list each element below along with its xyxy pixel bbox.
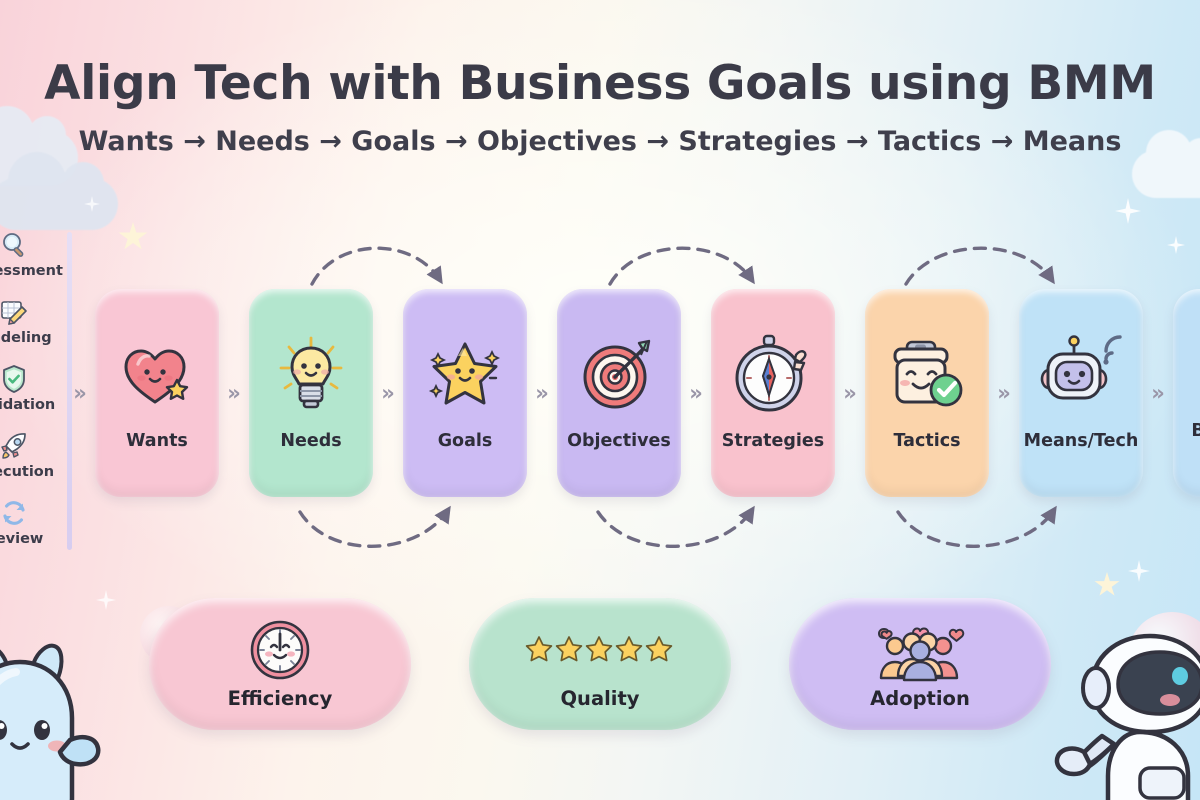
pill-label: Quality xyxy=(560,687,639,710)
chevron-right-icon: » xyxy=(835,289,865,497)
flow-card-tactics[interactable]: Tactics xyxy=(865,289,989,497)
flow-card-row: » Wants » xyxy=(95,289,1200,497)
chevron-right-icon: » xyxy=(1143,289,1173,497)
pill-label: Efficiency xyxy=(228,687,333,710)
cloud-icon xyxy=(0,178,118,230)
white-robot-mascot xyxy=(1054,628,1200,800)
card-label: Strategies xyxy=(722,432,824,452)
robot-wifi-icon xyxy=(1038,328,1124,420)
page-subtitle: Wants → Needs → Goals → Objectives → Str… xyxy=(0,126,1200,157)
sparkle-icon xyxy=(1115,198,1141,224)
shield-check-icon xyxy=(0,362,28,396)
chevron-right-icon: » xyxy=(65,289,95,497)
flow-card-objectives[interactable]: Objectives xyxy=(557,289,681,497)
pencil-chart-icon xyxy=(0,295,29,329)
flow-card-needs[interactable]: Needs xyxy=(249,289,373,497)
outcome-pill-quality[interactable]: Quality xyxy=(469,598,731,730)
heart-face-icon xyxy=(118,328,196,420)
target-arrow-icon xyxy=(579,328,659,420)
rail-label: Review xyxy=(0,532,43,547)
checklist-check-icon xyxy=(885,328,969,420)
outcome-pill-row: Efficiency Quality xyxy=(0,598,1200,730)
outcome-pill-adoption[interactable]: Adoption xyxy=(789,598,1051,730)
card-label: Wants xyxy=(126,432,188,452)
rail-item-execution[interactable]: Execution xyxy=(0,429,58,496)
flow-card-wants[interactable]: Wants xyxy=(95,289,219,497)
rail-label: Modeling xyxy=(0,331,52,346)
people-hearts-icon xyxy=(868,619,972,681)
card-label: Tactics xyxy=(893,432,960,452)
chevron-right-icon: » xyxy=(527,289,557,497)
magnifier-icon xyxy=(0,228,29,262)
card-label: Objectives xyxy=(567,432,671,452)
blue-cat-mascot xyxy=(0,622,144,800)
chevron-right-icon: » xyxy=(681,289,711,497)
rocket-icon xyxy=(0,429,29,463)
lightbulb-face-icon xyxy=(273,328,349,420)
star-decor-icon xyxy=(118,222,148,252)
chevron-right-icon: » xyxy=(989,289,1019,497)
clock-face-icon xyxy=(249,619,311,681)
page-title: Align Tech with Business Goals using BMM xyxy=(0,56,1200,111)
rail-label: Execution xyxy=(0,465,54,480)
rail-item-validation[interactable]: Validation xyxy=(0,362,58,429)
chevron-right-icon: » xyxy=(373,289,403,497)
pill-label: Adoption xyxy=(870,687,970,710)
card-label: Goals xyxy=(438,432,493,452)
rail-label: Validation xyxy=(0,398,55,413)
star-decor-icon xyxy=(1094,572,1120,598)
sparkle-icon xyxy=(1167,236,1185,254)
chevron-right-icon: » xyxy=(219,289,249,497)
card-label: Needs xyxy=(280,432,341,452)
flow-card-means-tech[interactable]: Means/Tech xyxy=(1019,289,1143,497)
outcome-pill-efficiency[interactable]: Efficiency xyxy=(149,598,411,730)
infographic-canvas: Align Tech with Business Goals using BMM… xyxy=(0,0,1200,800)
flow-card-business-value[interactable]: Business Value xyxy=(1173,289,1200,497)
compass-icon xyxy=(733,328,813,420)
five-stars-icon xyxy=(524,619,676,681)
flow-card-goals[interactable]: Goals xyxy=(403,289,527,497)
rail-item-modeling[interactable]: Modeling xyxy=(0,295,58,362)
rail-item-review[interactable]: Review xyxy=(0,496,58,563)
process-rail: Assessment Modeling xyxy=(0,228,58,563)
rail-label: Assessment xyxy=(0,264,63,279)
flow-card-strategies[interactable]: Strategies xyxy=(711,289,835,497)
card-label: Business Value xyxy=(1191,422,1200,461)
star-face-icon xyxy=(424,328,506,420)
refresh-cycle-icon xyxy=(0,496,29,530)
sparkle-icon xyxy=(1128,560,1150,582)
cloud-icon xyxy=(1132,150,1200,198)
card-label: Means/Tech xyxy=(1024,432,1139,452)
rail-item-assessment[interactable]: Assessment xyxy=(0,228,58,295)
